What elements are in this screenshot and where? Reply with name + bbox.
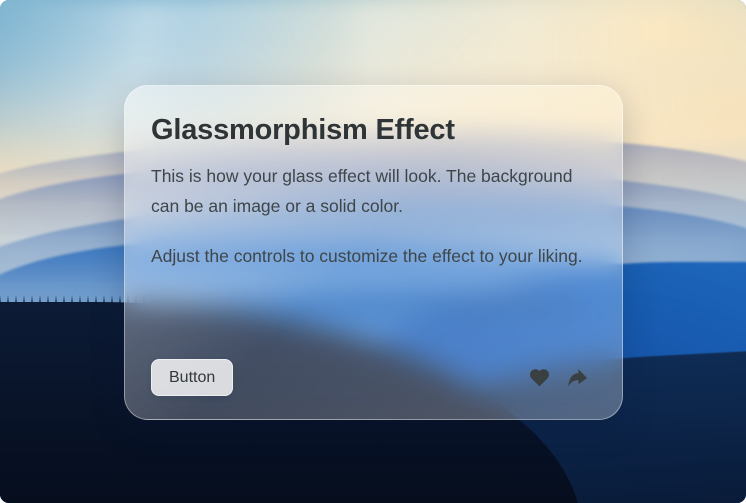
card-action-icons: [529, 368, 590, 388]
background-stage: Glassmorphism Effect This is how your gl…: [0, 0, 746, 503]
heart-icon: [529, 368, 550, 387]
card-footer: Button: [151, 359, 590, 396]
primary-button[interactable]: Button: [151, 359, 233, 396]
heart-icon-button[interactable]: [529, 368, 550, 387]
share-icon: [566, 368, 588, 388]
card-paragraph-1: This is how your glass effect will look.…: [151, 161, 590, 221]
card-title: Glassmorphism Effect: [151, 114, 590, 147]
card-paragraph-2: Adjust the controls to customize the eff…: [151, 241, 590, 271]
share-icon-button[interactable]: [566, 368, 588, 388]
glass-card: Glassmorphism Effect This is how your gl…: [124, 85, 623, 420]
